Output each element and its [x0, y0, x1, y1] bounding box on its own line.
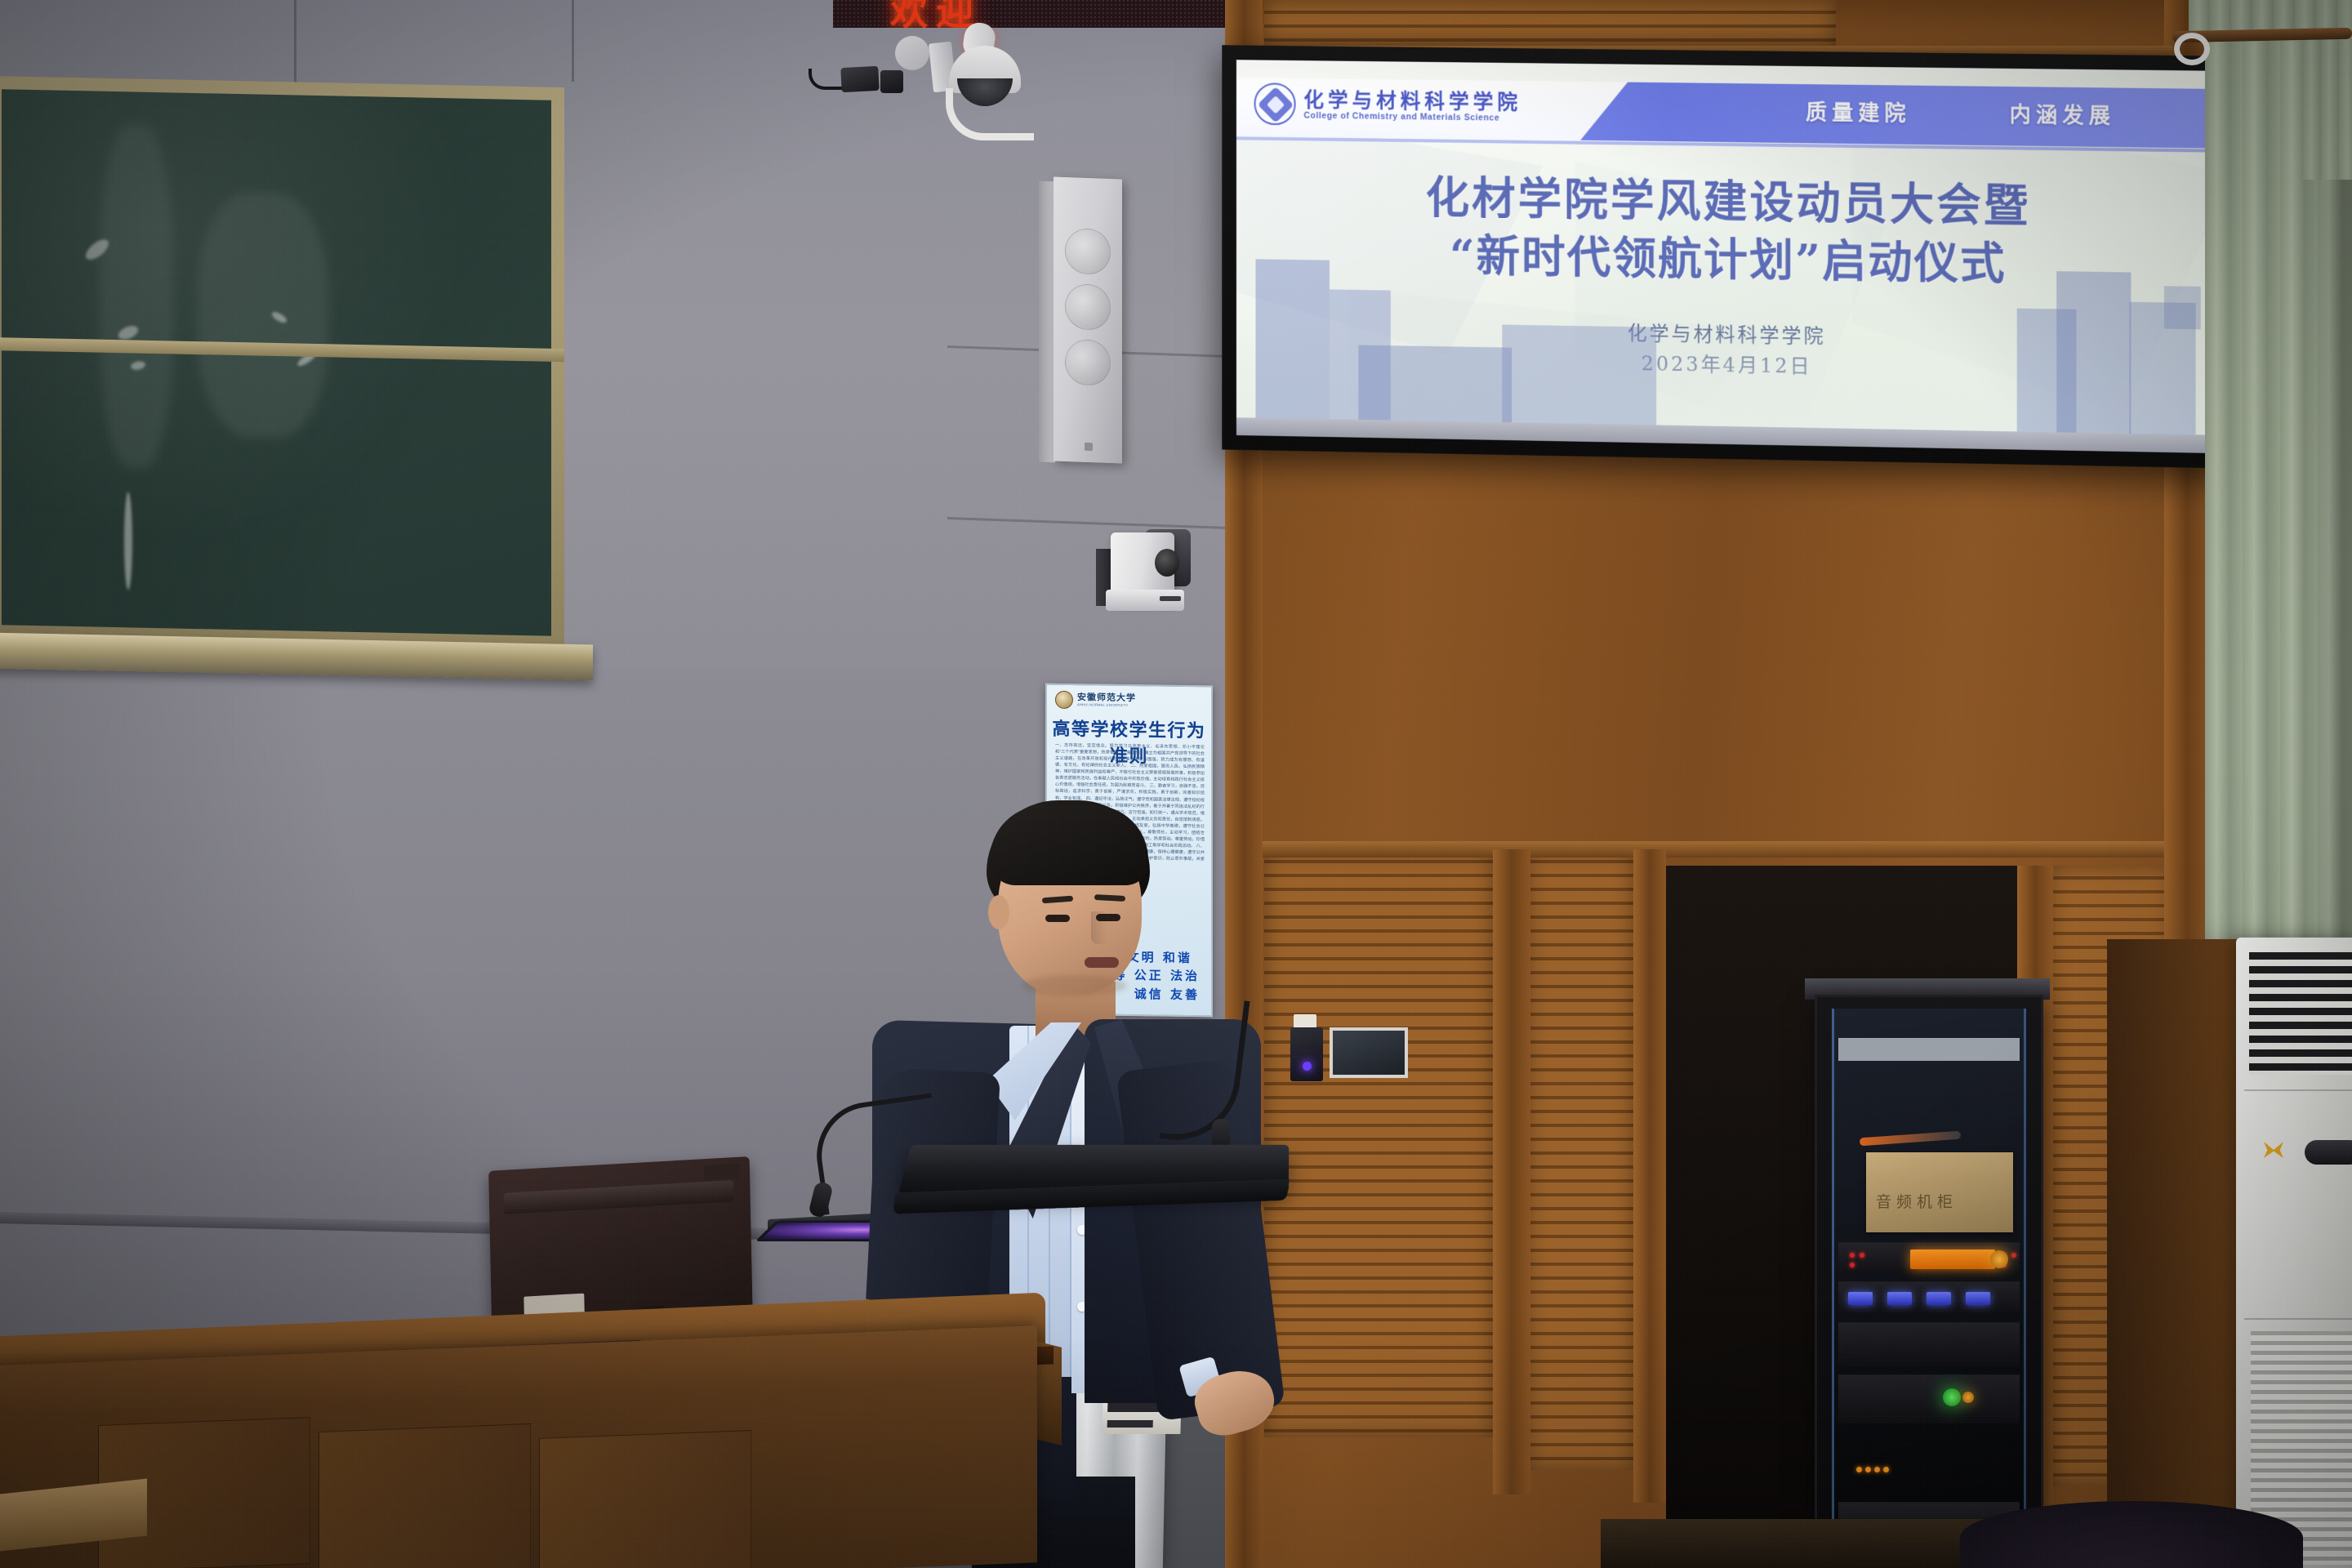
- wood-post: [1493, 849, 1530, 1494]
- wall-display-panel[interactable]: [1330, 1027, 1408, 1078]
- wood-rail: [1225, 841, 2189, 857]
- ac-butterfly-sticker-icon: [2264, 1142, 2283, 1158]
- card-reader-led-icon: [1303, 1062, 1312, 1071]
- person-mouth: [1085, 957, 1119, 968]
- wood-post: [1633, 849, 1666, 1503]
- monitor-vent: [504, 1180, 734, 1214]
- foreground-silhouette: [1960, 1501, 2303, 1568]
- college-logo: 化学与材料科学学院 College of Chemistry and Mater…: [1254, 82, 1522, 128]
- rack-orange-display: [1910, 1249, 1995, 1269]
- desk-cabinet-door: [539, 1430, 751, 1568]
- college-name-cn: 化学与材料科学学院: [1303, 88, 1521, 113]
- rack-label-card: 音频机柜: [1866, 1152, 2013, 1232]
- rack-channel-led-icon: [1927, 1292, 1951, 1305]
- presentation-slide: 化学与材料科学学院 College of Chemistry and Mater…: [1236, 60, 2225, 453]
- classroom-scene: 欢迎: [0, 0, 2352, 1568]
- slide-building-graphic: [1358, 345, 1512, 422]
- university-crest-icon: [1055, 691, 1073, 709]
- ac-top-vent-icon: [2249, 952, 2352, 1075]
- person-hair-front: [990, 805, 1148, 885]
- slide-building-graphic: [2164, 286, 2201, 329]
- slide-slogans: 质量建院 内涵发展: [1806, 96, 2115, 130]
- university-crest: 安徽师范大学 ANHUI NORMAL UNIVERSITY: [1055, 689, 1186, 712]
- person-ear: [988, 895, 1009, 929]
- wood-slat-panel: [1264, 0, 1836, 46]
- blackboard: [0, 76, 564, 649]
- speaker-side: [1039, 181, 1055, 463]
- university-name-en: ANHUI NORMAL UNIVERSITY: [1077, 702, 1136, 707]
- rack-power-led-icon: [1990, 1250, 2008, 1268]
- university-name: 安徽师范大学: [1077, 693, 1136, 704]
- power-adapter: [840, 66, 880, 92]
- wood-slat-panel: [1527, 849, 1633, 1470]
- power-adapter: [880, 70, 903, 93]
- wall-speaker-icon: [1053, 177, 1122, 464]
- college-emblem-icon: [1254, 82, 1296, 125]
- college-name-en: College of Chemistry and Materials Scien…: [1303, 110, 1521, 122]
- right-wall-column: [2107, 939, 2246, 1568]
- air-conditioner: [2236, 938, 2352, 1568]
- curtain-header: [2189, 0, 2352, 31]
- wall-panel-joint: [572, 0, 574, 82]
- wood-slat-panel: [1264, 849, 1493, 1437]
- smoke-detector-icon: [895, 36, 929, 70]
- ptz-lens-icon: [1155, 549, 1179, 577]
- person-chin-shadow: [1021, 975, 1127, 996]
- rack-channel-led-icon: [1887, 1292, 1912, 1305]
- slogan-2: 内涵发展: [2010, 98, 2116, 130]
- av-equipment-rack: 音频机柜: [1815, 995, 2043, 1566]
- slide-building-graphic: [1256, 259, 1330, 419]
- ptz-camera-slot: [1160, 596, 1181, 601]
- rack-status-led-icon: [1962, 1392, 1974, 1403]
- desk-cabinet-door: [318, 1423, 531, 1568]
- rack-patch-leds: [1856, 1454, 1895, 1472]
- curtain-ring-icon: [2174, 33, 2210, 65]
- person-nose: [1091, 911, 1107, 944]
- slide-building-graphic: [1502, 325, 1656, 425]
- projection-screen: 化学与材料科学学院 College of Chemistry and Mater…: [1222, 45, 2240, 469]
- monitor-brand-badge: [704, 1164, 740, 1180]
- rack-label-text: 音频机柜: [1876, 1190, 1958, 1212]
- ac-control-badge[interactable]: [2305, 1140, 2352, 1165]
- blackboard-surface: [2, 89, 551, 636]
- card-reader-icon[interactable]: [1290, 1027, 1323, 1081]
- rack-status-led-icon: [1943, 1388, 1961, 1406]
- rack-channel-led-icon: [1848, 1292, 1873, 1305]
- slide-header: 化学与材料科学学院 College of Chemistry and Mater…: [1236, 78, 2225, 149]
- rack-channel-led-icon: [1966, 1292, 1990, 1305]
- slogan-1: 质量建院: [1806, 96, 1911, 127]
- slide-building-graphic: [2056, 271, 2131, 434]
